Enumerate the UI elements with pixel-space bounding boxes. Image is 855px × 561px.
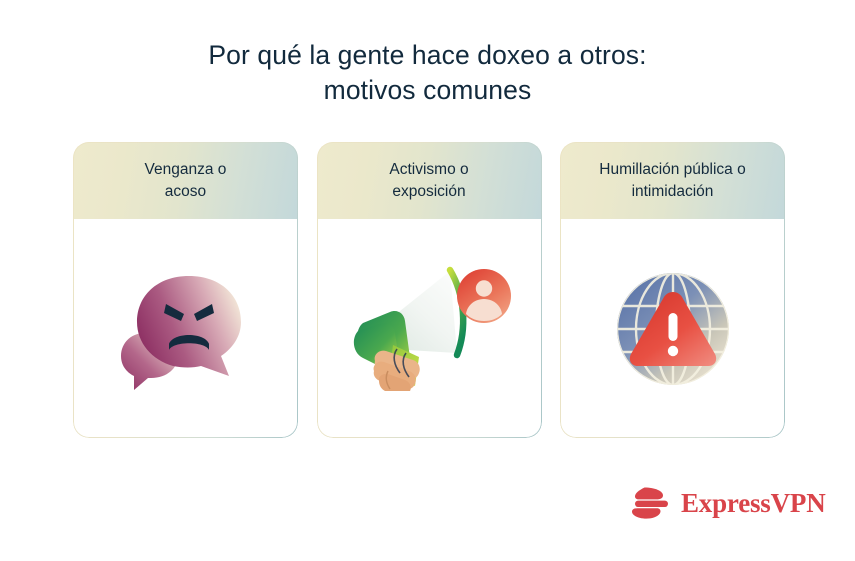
angry-speech-bubbles-illustration bbox=[111, 264, 261, 394]
card-body bbox=[317, 219, 542, 438]
card-body bbox=[73, 219, 298, 438]
card-header-label: Activismo o exposición bbox=[379, 159, 478, 203]
expressvpn-wordmark: ExpressVPN bbox=[681, 490, 826, 517]
reason-card-humillacion-publica-o-intimidacion: Humillación pública o intimidación bbox=[560, 142, 785, 438]
globe-with-warning-illustration bbox=[608, 264, 738, 394]
card-body bbox=[560, 219, 785, 438]
person-avatar-icon bbox=[457, 269, 511, 323]
page-title: Por qué la gente hace doxeo a otros: mot… bbox=[0, 38, 855, 108]
megaphone-with-hand-illustration bbox=[345, 261, 513, 396]
card-header: Humillación pública o intimidación bbox=[560, 142, 785, 219]
reason-card-activismo-o-exposicion: Activismo o exposición bbox=[317, 142, 542, 438]
page-title-line-2: motivos comunes bbox=[0, 73, 855, 108]
card-header-label: Venganza o acoso bbox=[135, 159, 237, 203]
reason-cards-row: Venganza o acoso bbox=[73, 142, 785, 438]
card-header-label: Humillación pública o intimidación bbox=[589, 159, 755, 203]
card-header: Venganza o acoso bbox=[73, 142, 298, 219]
reason-card-venganza-o-acoso: Venganza o acoso bbox=[73, 142, 298, 438]
page-title-line-1: Por qué la gente hace doxeo a otros: bbox=[0, 38, 855, 73]
infographic-page: Por qué la gente hace doxeo a otros: mot… bbox=[0, 0, 855, 561]
expressvpn-logo: ExpressVPN bbox=[630, 483, 795, 523]
expressvpn-logo-mark bbox=[630, 486, 672, 520]
card-header: Activismo o exposición bbox=[317, 142, 542, 219]
